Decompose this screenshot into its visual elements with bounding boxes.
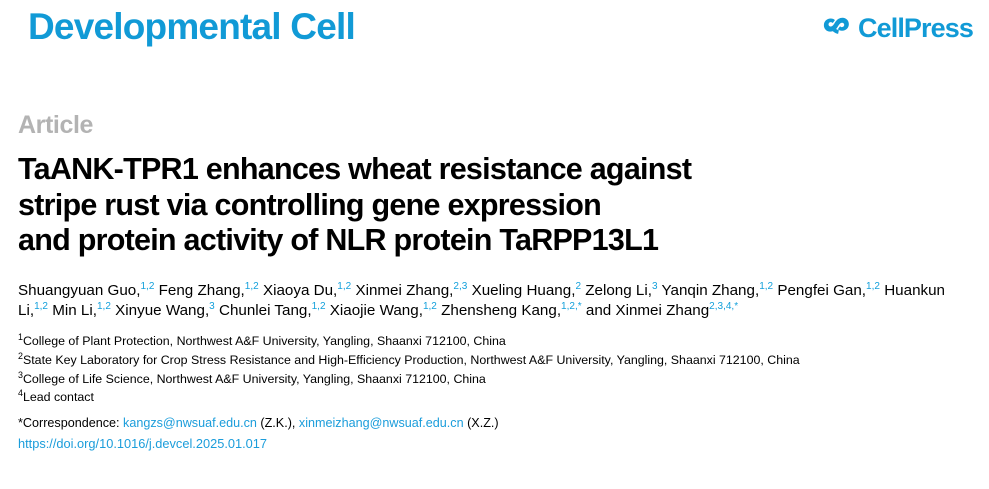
author-affiliation-marker: 1,2 xyxy=(423,301,437,312)
affiliation-text: College of Plant Protection, Northwest A… xyxy=(23,334,506,348)
author-entry: Yanqin Zhang,1,2 xyxy=(662,282,774,299)
correspondence-initials: (X.Z.) xyxy=(464,416,499,430)
author-name: Xiaojie Wang xyxy=(330,302,419,319)
affiliation-text: College of Life Science, Northwest A&F U… xyxy=(23,372,486,386)
author-entry: Xinyue Wang,3 xyxy=(115,302,215,319)
correspondence-email-link[interactable]: kangzs@nwsuaf.edu.cn xyxy=(123,416,257,430)
doi-link[interactable]: https://doi.org/10.1016/j.devcel.2025.01… xyxy=(18,436,267,451)
author-name: Zhensheng Kang xyxy=(441,302,557,319)
author-entry: Xueling Huang,2 xyxy=(472,282,581,299)
affiliation-item: 1College of Plant Protection, Northwest … xyxy=(18,332,979,351)
author-entry: Chunlei Tang,1,2 xyxy=(219,302,326,319)
author-entry: Xiaoya Du,1,2 xyxy=(263,282,351,299)
author-name: Xueling Huang xyxy=(472,282,572,299)
affiliation-item: 3College of Life Science, Northwest A&F … xyxy=(18,370,979,389)
author-affiliation-marker: 3 xyxy=(209,301,215,312)
author-entry: and Xinmei Zhang2,3,4,* xyxy=(586,302,738,319)
author-entry: Feng Zhang,1,2 xyxy=(159,282,259,299)
author-entry: Zelong Li,3 xyxy=(585,282,657,299)
author-name: Shuangyuan Guo xyxy=(18,282,136,299)
author-affiliation-marker: 1,2 xyxy=(337,281,351,292)
author-name: Pengfei Gan xyxy=(777,282,861,299)
journal-title: Developmental Cell xyxy=(28,8,355,45)
affiliation-text: State Key Laboratory for Crop Stress Res… xyxy=(23,353,800,367)
author-affiliation-marker: 1,2 xyxy=(866,281,880,292)
affiliation-item: 2State Key Laboratory for Crop Stress Re… xyxy=(18,351,979,370)
author-name: Min Li xyxy=(52,302,93,319)
author-affiliation-marker: 1,2 xyxy=(97,301,111,312)
author-affiliation-marker: 1,2 xyxy=(140,281,154,292)
author-affiliation-marker: 1,2,* xyxy=(561,301,582,312)
author-affiliation-marker: 1,2 xyxy=(245,281,259,292)
author-entry: Zhensheng Kang,1,2,* xyxy=(441,302,582,319)
correspondence-email-link[interactable]: xinmeizhang@nwsuaf.edu.cn xyxy=(299,416,464,430)
author-affiliation-marker: 2,3,4,* xyxy=(709,301,738,312)
author-entry: Min Li,1,2 xyxy=(52,302,111,319)
correspondence-prefix: *Correspondence: xyxy=(18,416,123,430)
author-entry: Xinmei Zhang,2,3 xyxy=(355,282,467,299)
author-name: Xinyue Wang xyxy=(115,302,205,319)
author-entry: Pengfei Gan,1,2 xyxy=(777,282,880,299)
doi-line: https://doi.org/10.1016/j.devcel.2025.01… xyxy=(18,435,979,454)
title-line: TaANK-TPR1 enhances wheat resistance aga… xyxy=(18,152,979,188)
page-title: TaANK-TPR1 enhances wheat resistance aga… xyxy=(18,152,979,259)
cellpress-logo[interactable]: CellPress xyxy=(823,14,973,42)
author-affiliation-marker: 1,2 xyxy=(34,301,48,312)
article-header-page: Developmental Cell CellPress Article TaA… xyxy=(0,0,989,489)
author-name: Chunlei Tang xyxy=(219,302,307,319)
correspondence-initials: (Z.K.), xyxy=(257,416,299,430)
correspondence-line: *Correspondence: kangzs@nwsuaf.edu.cn (Z… xyxy=(18,414,979,433)
author-name: Zelong Li xyxy=(585,282,647,299)
author-affiliation-marker: 2,3 xyxy=(453,281,467,292)
author-name: Yanqin Zhang xyxy=(662,282,755,299)
cellpress-loop-icon xyxy=(823,14,851,42)
author-name: and Xinmei Zhang xyxy=(586,302,709,319)
cellpress-wordmark: CellPress xyxy=(858,15,973,42)
affiliation-text: Lead contact xyxy=(23,390,94,404)
author-affiliation-marker: 1,2 xyxy=(312,301,326,312)
affiliation-list: 1College of Plant Protection, Northwest … xyxy=(18,332,979,407)
article-type-label: Article xyxy=(18,113,979,138)
masthead: Developmental Cell CellPress xyxy=(10,0,979,60)
author-list: Shuangyuan Guo,1,2 Feng Zhang,1,2 Xiaoya… xyxy=(18,281,963,322)
author-affiliation-marker: 3 xyxy=(652,281,658,292)
author-affiliation-marker: 1,2 xyxy=(759,281,773,292)
author-affiliation-marker: 2 xyxy=(575,281,581,292)
author-entry: Xiaojie Wang,1,2 xyxy=(330,302,437,319)
title-line: and protein activity of NLR protein TaRP… xyxy=(18,223,979,259)
author-entry: Shuangyuan Guo,1,2 xyxy=(18,282,154,299)
author-name: Feng Zhang xyxy=(159,282,241,299)
author-name: Xiaoya Du xyxy=(263,282,333,299)
affiliation-item: 4Lead contact xyxy=(18,388,979,407)
title-line: stripe rust via controlling gene express… xyxy=(18,188,979,224)
author-name: Xinmei Zhang xyxy=(355,282,449,299)
